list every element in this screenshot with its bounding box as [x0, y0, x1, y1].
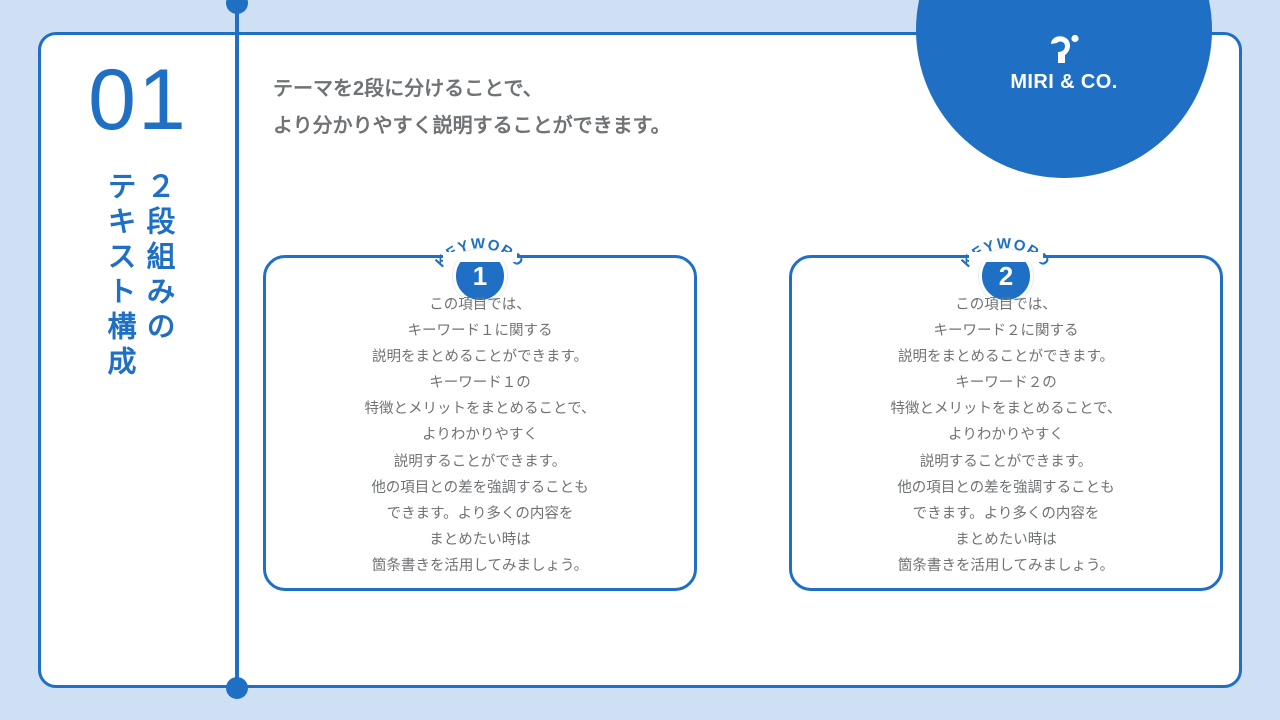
brand-name: MIRI & CO.	[916, 71, 1212, 94]
divider-dot-top	[226, 0, 248, 14]
vertical-title-line-1: ２段組みの	[143, 171, 172, 381]
slide-number-column: 01 ２段組みの テキスト構成	[41, 35, 235, 685]
brand-logo-icon	[1045, 33, 1083, 67]
headline: テーマを2段に分けることで、 より分かりやすく説明することができます。	[273, 71, 671, 145]
keyword-column-1: KEYWORD 1 この項目では、 キーワード１に関する 説明をまとめることがで…	[263, 211, 697, 591]
bracket-gap-1	[443, 252, 517, 262]
keyword-columns: KEYWORD 1 この項目では、 キーワード１に関する 説明をまとめることがで…	[263, 211, 1223, 591]
vertical-title-line-2: テキスト構成	[104, 171, 133, 381]
keyword-body-1: この項目では、 キーワード１に関する 説明をまとめることができます。 キーワード…	[266, 292, 694, 579]
slide-number: 01	[41, 57, 235, 143]
brand-content: MIRI & CO.	[916, 33, 1212, 94]
keyword-card-1: この項目では、 キーワード１に関する 説明をまとめることができます。 キーワード…	[263, 255, 697, 591]
keyword-card-2: この項目では、 キーワード２に関する 説明をまとめることができます。 キーワード…	[789, 255, 1223, 591]
bracket-gap-2	[969, 252, 1043, 262]
keyword-column-2: KEYWORD 2 この項目では、 キーワード２に関する 説明をまとめることがで…	[789, 211, 1223, 591]
vertical-title: ２段組みの テキスト構成	[41, 171, 235, 381]
keyword-body-2: この項目では、 キーワード２に関する 説明をまとめることができます。 キーワード…	[792, 292, 1220, 579]
